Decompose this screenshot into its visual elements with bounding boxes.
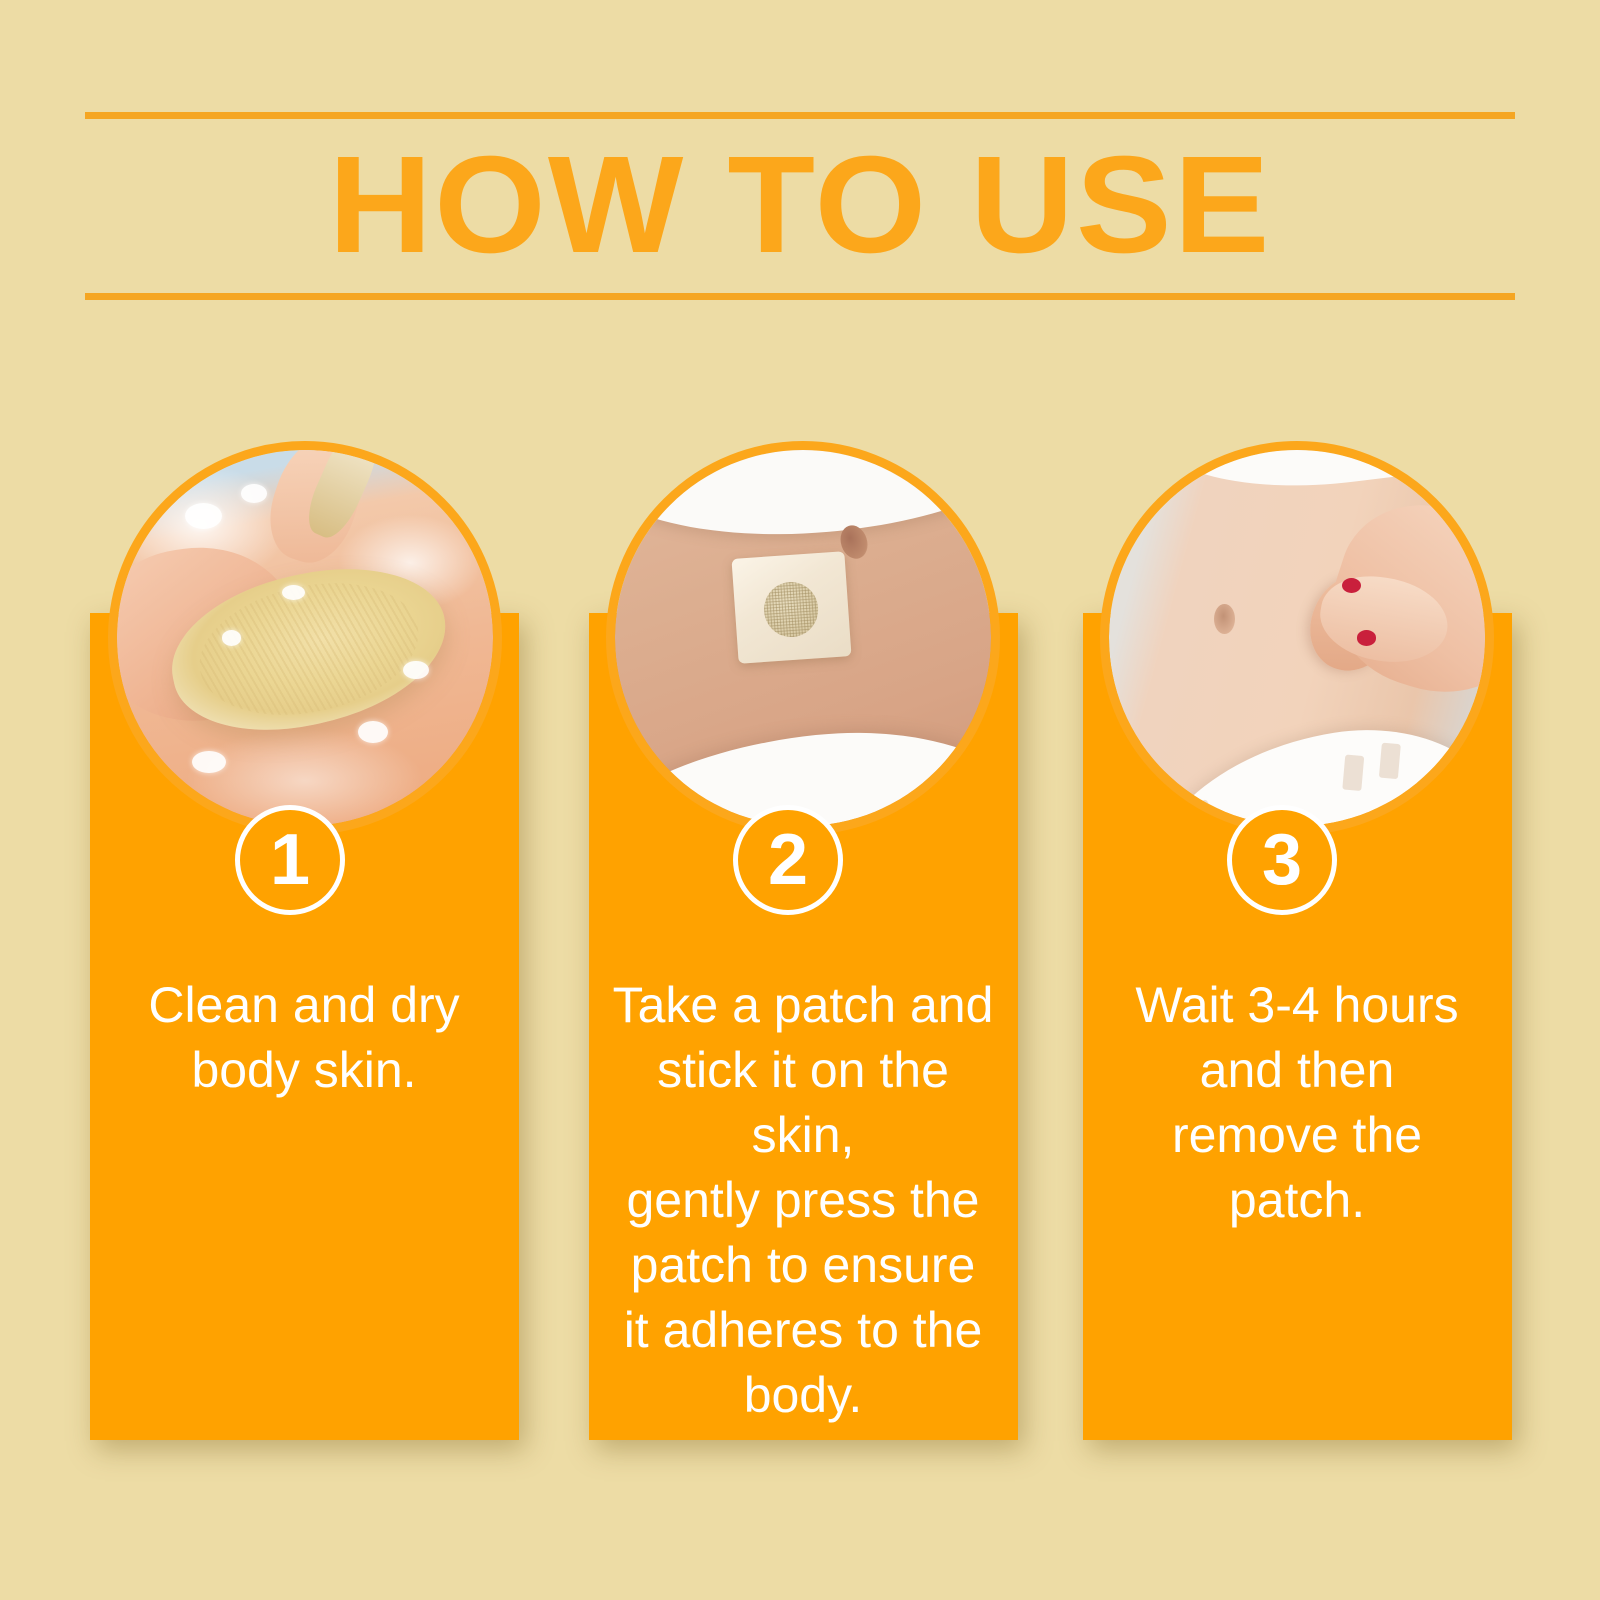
navel-shape <box>1214 604 1235 634</box>
nail-shape <box>1342 578 1361 593</box>
bra-shape <box>615 450 991 553</box>
step-caption-3: Wait 3-4 hours and then remove the patch… <box>1094 973 1500 1233</box>
title-rule-bottom <box>85 293 1515 300</box>
how-to-use-infographic: HOW TO USE <box>0 0 1600 1600</box>
brief-shape <box>1122 707 1485 826</box>
brief-cutout <box>1378 742 1400 778</box>
step-number-badge-1: 1 <box>235 805 345 915</box>
foam-bubble <box>358 721 388 744</box>
patch-mesh-core <box>763 581 821 639</box>
step-caption-2: Take a patch and stick it on the skin, g… <box>600 973 1006 1428</box>
patch-on-belly-image <box>615 450 991 826</box>
belly-with-patch-illustration <box>615 450 991 826</box>
soapy-sponge-illustration <box>117 450 493 826</box>
slimming-patch-shape <box>732 551 852 664</box>
step-caption-1: Clean and dry body skin. <box>104 973 504 1103</box>
page-title: HOW TO USE <box>56 124 1543 286</box>
brief-cutout <box>1192 799 1218 826</box>
foam-bubble <box>222 630 241 645</box>
step-number-badge-2: 2 <box>733 805 843 915</box>
header: HOW TO USE <box>85 112 1515 300</box>
pinching-waist-image <box>1109 450 1485 826</box>
foam-bubble <box>403 661 429 680</box>
title-rule-top <box>85 112 1515 119</box>
step-photo-1 <box>108 441 502 835</box>
nail-shape <box>1357 630 1376 645</box>
foam-bubble <box>185 503 223 529</box>
step-photo-2 <box>606 441 1000 835</box>
washing-skin-image <box>117 450 493 826</box>
step-number-badge-3: 3 <box>1227 805 1337 915</box>
step-photo-3 <box>1100 441 1494 835</box>
foam-bubble <box>241 484 267 503</box>
top-garment-shape <box>1151 450 1466 506</box>
foam-bubble <box>192 751 226 774</box>
steps-row: 1 Clean and dry body skin. 2 Take a patc… <box>0 420 1600 1480</box>
brief-cutout <box>1342 755 1364 791</box>
waist-pinch-illustration <box>1109 450 1485 826</box>
